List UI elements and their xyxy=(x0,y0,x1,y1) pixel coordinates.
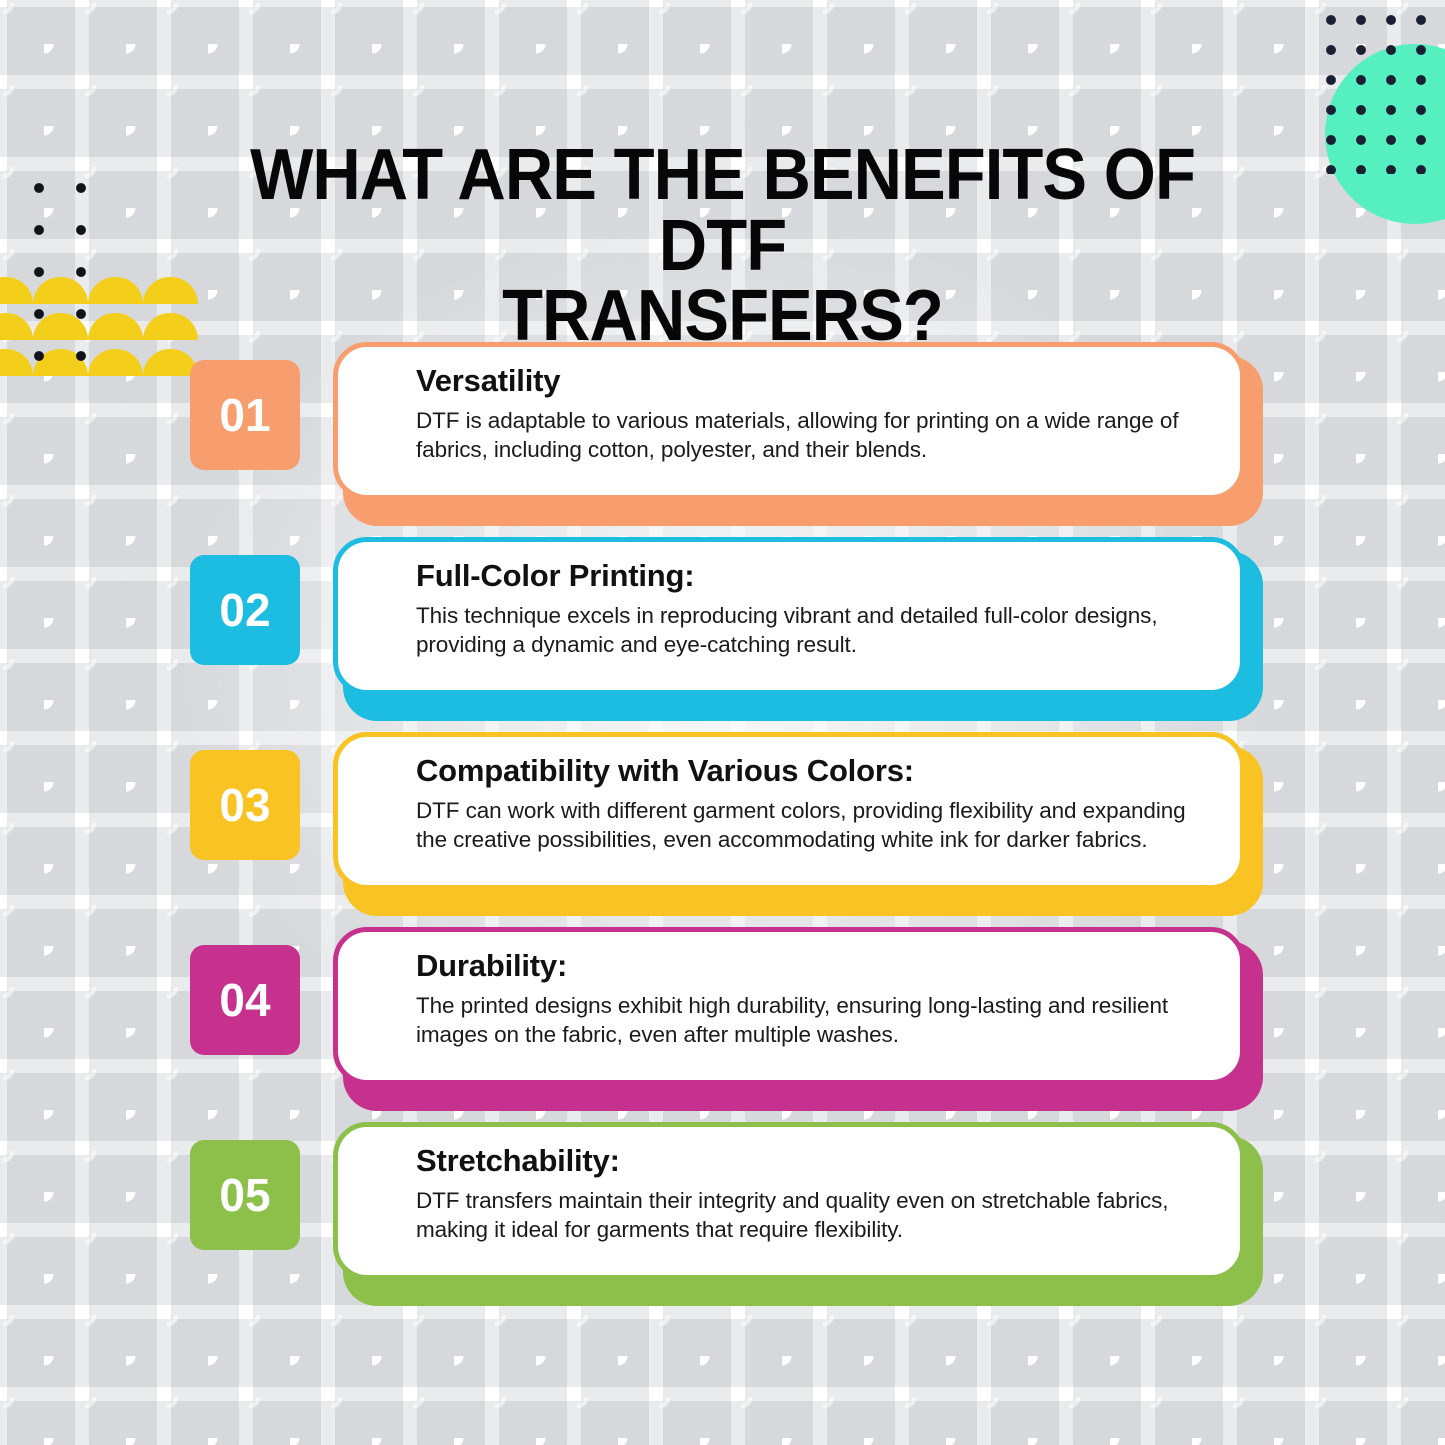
benefits-list: 01VersatilityDTF is adaptable to various… xyxy=(0,336,1445,1311)
benefit-heading: Stretchability: xyxy=(416,1143,1210,1179)
benefit-card[interactable]: Compatibility with Various Colors:DTF ca… xyxy=(333,732,1245,890)
benefit-number-badge[interactable]: 05 xyxy=(190,1140,300,1250)
benefit-card-wrapper: Compatibility with Various Colors:DTF ca… xyxy=(333,732,1253,904)
benefit-row: 02Full-Color Printing:This technique exc… xyxy=(0,531,1445,726)
benefit-number-badge[interactable]: 03 xyxy=(190,750,300,860)
semicircle-shape xyxy=(143,277,198,304)
benefit-heading: Compatibility with Various Colors: xyxy=(416,753,1210,789)
benefit-body: DTF is adaptable to various materials, a… xyxy=(416,406,1210,465)
benefit-row: 04Durability:The printed designs exhibit… xyxy=(0,921,1445,1116)
benefit-number-label: 05 xyxy=(219,1168,270,1222)
benefit-number-badge[interactable]: 01 xyxy=(190,360,300,470)
benefit-card[interactable]: VersatilityDTF is adaptable to various m… xyxy=(333,342,1245,500)
benefit-card-wrapper: VersatilityDTF is adaptable to various m… xyxy=(333,342,1253,514)
benefit-number-label: 04 xyxy=(219,973,270,1027)
page-title: WHAT ARE THE BENEFITS OF DTF TRANSFERS? xyxy=(199,140,1245,352)
page-title-line-1: WHAT ARE THE BENEFITS OF DTF xyxy=(250,135,1195,286)
benefit-card[interactable]: Full-Color Printing:This technique excel… xyxy=(333,537,1245,695)
benefit-row: 01VersatilityDTF is adaptable to various… xyxy=(0,336,1445,531)
benefit-number-label: 01 xyxy=(219,388,270,442)
benefit-card-wrapper: Full-Color Printing:This technique excel… xyxy=(333,537,1253,709)
benefit-card[interactable]: Stretchability:DTF transfers maintain th… xyxy=(333,1122,1245,1280)
benefit-card-wrapper: Durability:The printed designs exhibit h… xyxy=(333,927,1253,1099)
benefit-body: DTF can work with different garment colo… xyxy=(416,796,1210,855)
benefit-number-label: 02 xyxy=(219,583,270,637)
benefit-heading: Full-Color Printing: xyxy=(416,558,1210,594)
right-dot-grid-decoration xyxy=(1313,2,1435,174)
benefit-number-label: 03 xyxy=(219,778,270,832)
benefit-row: 03Compatibility with Various Colors:DTF … xyxy=(0,726,1445,921)
infographic-poster: WHAT ARE THE BENEFITS OF DTF TRANSFERS? … xyxy=(0,0,1445,1445)
semicircle-shape xyxy=(88,277,143,304)
benefit-row: 05Stretchability:DTF transfers maintain … xyxy=(0,1116,1445,1311)
benefit-body: The printed designs exhibit high durabil… xyxy=(416,991,1210,1050)
benefit-heading: Durability: xyxy=(416,948,1210,984)
benefit-number-badge[interactable]: 02 xyxy=(190,555,300,665)
benefit-body: DTF transfers maintain their integrity a… xyxy=(416,1186,1210,1245)
benefit-body: This technique excels in reproducing vib… xyxy=(416,601,1210,660)
benefit-card-wrapper: Stretchability:DTF transfers maintain th… xyxy=(333,1122,1253,1294)
benefit-card[interactable]: Durability:The printed designs exhibit h… xyxy=(333,927,1245,1085)
left-dot-grid-decoration xyxy=(14,163,86,363)
benefit-number-badge[interactable]: 04 xyxy=(190,945,300,1055)
benefit-heading: Versatility xyxy=(416,363,1210,399)
